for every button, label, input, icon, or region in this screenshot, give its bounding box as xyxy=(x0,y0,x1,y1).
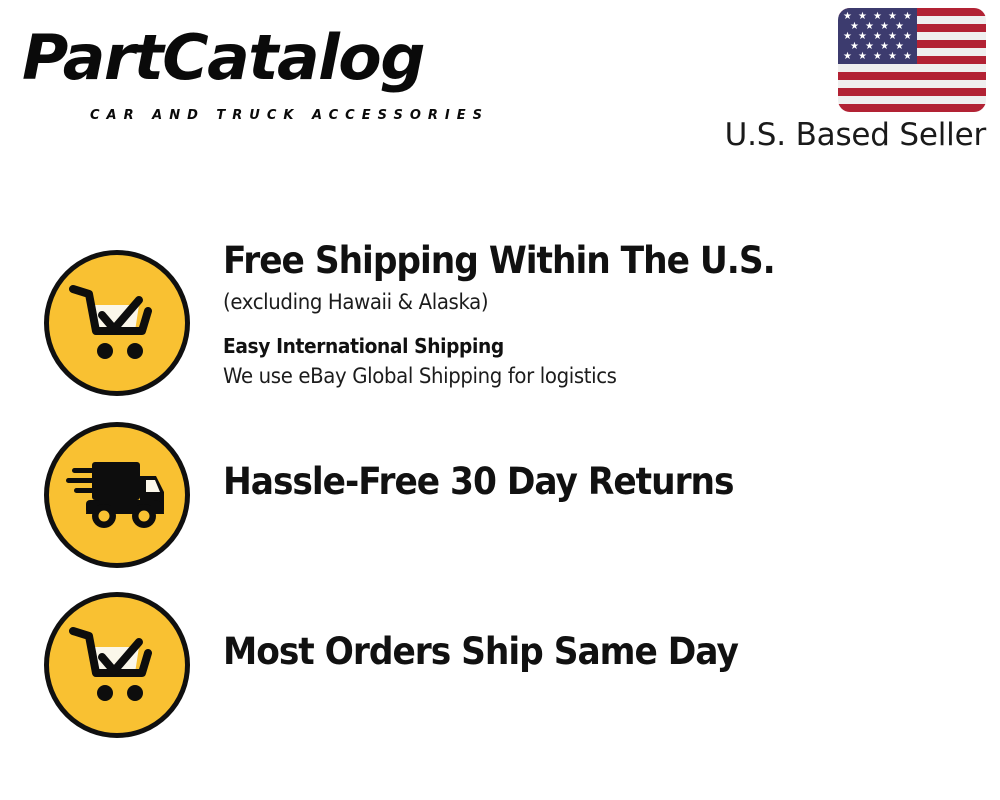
feature-row: Hassle-Free 30 Day Returns xyxy=(0,414,1000,579)
seller-badge: ★ ★ ★ ★ ★ ★ ★ ★ ★ ★ ★ ★ ★ ★ ★ ★ ★ ★ ★ ★ xyxy=(714,8,986,154)
shopping-cart-check-icon xyxy=(65,275,169,371)
flag-star: ★ xyxy=(903,52,912,62)
delivery-truck-icon xyxy=(64,454,170,536)
flag-stripe xyxy=(838,88,986,96)
page-header: PartCatalog CAR AND TRUCK ACCESSORIES ★ … xyxy=(0,0,1000,175)
shopping-cart-check-icon xyxy=(65,617,169,713)
feature-text-block: Hassle-Free 30 Day Returns xyxy=(223,459,990,504)
brand-tagline: CAR AND TRUCK ACCESSORIES xyxy=(90,108,489,123)
flag-canton: ★ ★ ★ ★ ★ ★ ★ ★ ★ ★ ★ ★ ★ ★ ★ ★ ★ ★ ★ ★ xyxy=(838,8,917,64)
flag-star: ★ xyxy=(873,52,882,62)
feature-title: Most Orders Ship Same Day xyxy=(223,629,936,674)
feature-title: Hassle-Free 30 Day Returns xyxy=(223,459,936,504)
flag-stripe xyxy=(838,104,986,112)
feature-title: Free Shipping Within The U.S. xyxy=(223,238,936,283)
feature-badge-shopping-cart-check xyxy=(44,592,190,738)
flag-star: ★ xyxy=(888,52,897,62)
seller-badge-label: U.S. Based Seller xyxy=(714,116,986,154)
feature-secondary-title: Easy International Shipping xyxy=(223,331,936,361)
feature-badge-shopping-cart-check xyxy=(44,250,190,396)
flag-star: ★ xyxy=(903,32,912,42)
flag-star: ★ xyxy=(903,12,912,22)
flag-stripe xyxy=(838,72,986,80)
flag-star: ★ xyxy=(858,52,867,62)
feature-secondary-subtitle: We use eBay Global Shipping for logistic… xyxy=(223,362,944,391)
feature-row: Most Orders Ship Same Day xyxy=(0,584,1000,749)
brand-wordmark: PartCatalog xyxy=(22,20,424,96)
feature-text-block: Free Shipping Within The U.S. (excluding… xyxy=(223,238,990,391)
brand-logo[interactable]: PartCatalog CAR AND TRUCK ACCESSORIES xyxy=(22,20,492,115)
feature-text-block: Most Orders Ship Same Day xyxy=(223,629,990,674)
flag-star: ★ xyxy=(843,52,852,62)
feature-badge-delivery-truck xyxy=(44,422,190,568)
feature-subtitle: (excluding Hawaii & Alaska) xyxy=(223,287,944,317)
us-flag-icon: ★ ★ ★ ★ ★ ★ ★ ★ ★ ★ ★ ★ ★ ★ ★ ★ ★ ★ ★ ★ xyxy=(838,8,986,112)
feature-row: Free Shipping Within The U.S. (excluding… xyxy=(0,238,1000,413)
